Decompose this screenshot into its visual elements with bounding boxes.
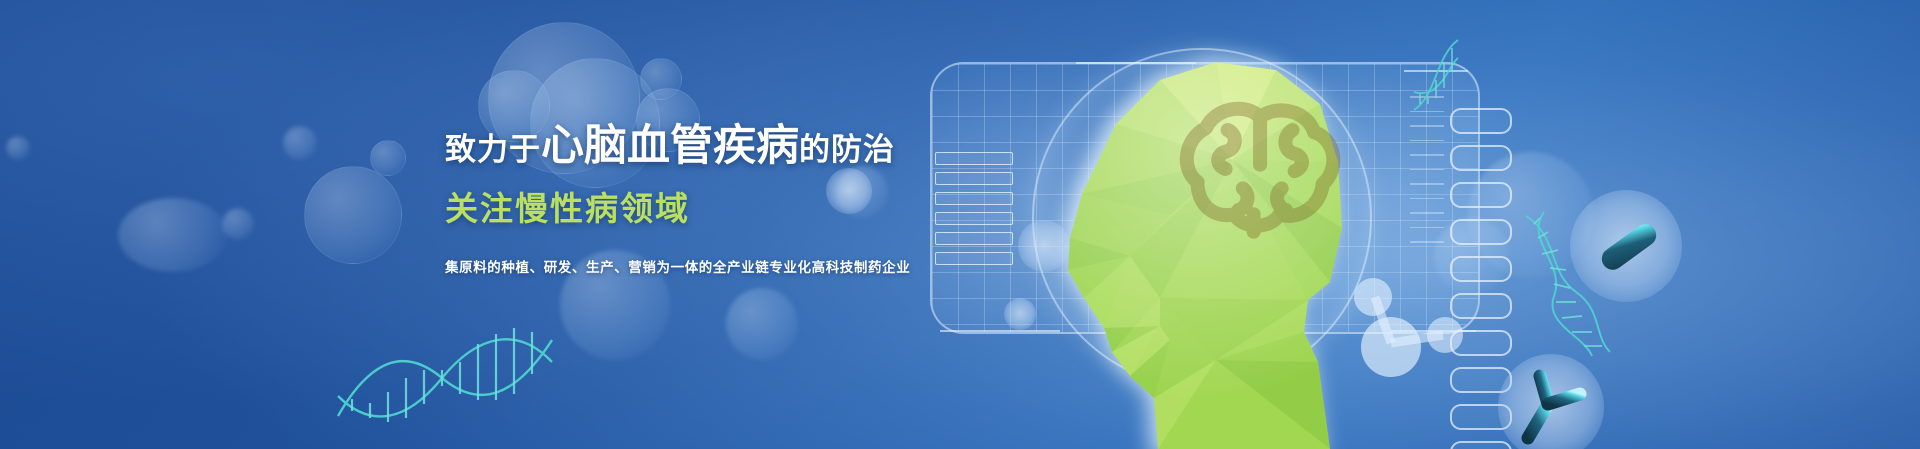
headline-suffix: 的防治 — [799, 132, 895, 167]
bokeh-bubble — [6, 136, 30, 160]
headline-emphasis: 心脑血管疾病 — [541, 122, 799, 170]
page-subtitle: 关注慢性病领域 — [445, 182, 1105, 230]
bokeh-bubble — [283, 126, 317, 160]
bokeh-bubble — [222, 208, 254, 240]
panel-pill — [1450, 108, 1512, 134]
antibody-icon — [1514, 368, 1594, 448]
specimen-bubble — [1004, 298, 1036, 330]
bokeh-bubble — [118, 198, 228, 272]
dna-helix-icon — [330, 300, 560, 440]
bacterium-icon — [1592, 212, 1666, 282]
bokeh-bubble — [304, 166, 402, 264]
hero-banner: 致力于心脑血管疾病的防治 关注慢性病领域 集原料的种植、研发、生产、营销为一体的… — [0, 0, 1920, 449]
page-tagline: 集原料的种植、研发、生产、营销为一体的全产业链专业化高科技制药企业 — [445, 256, 1105, 276]
panel-pill — [1450, 145, 1512, 171]
bokeh-bubble — [726, 288, 798, 360]
page-title: 致力于心脑血管疾病的防治 — [445, 120, 1105, 172]
bokeh-bubble — [370, 140, 406, 176]
banner-copy: 致力于心脑血管疾病的防治 关注慢性病领域 集原料的种植、研发、生产、营销为一体的… — [445, 120, 1105, 276]
panel-pill — [1450, 182, 1512, 208]
bokeh-bubble — [640, 58, 682, 100]
panel-pill — [1450, 441, 1512, 449]
headline-prefix: 致力于 — [445, 132, 541, 167]
